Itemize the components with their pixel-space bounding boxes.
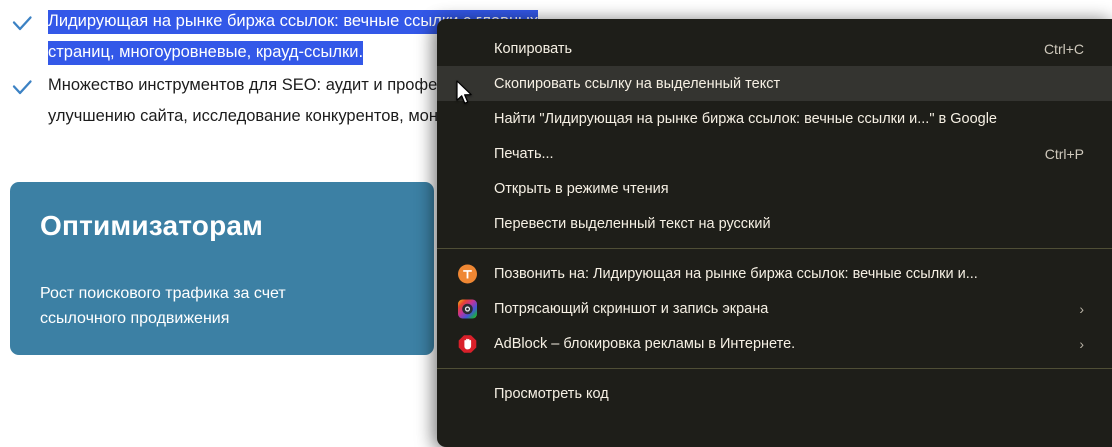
menu-item-label: Печать... <box>494 146 1021 162</box>
awesome-screenshot-extension-icon <box>458 299 477 318</box>
promo-card-title: Оптимизаторам <box>40 210 404 242</box>
menu-item-label: Просмотреть код <box>494 386 1060 402</box>
adblock-extension-icon <box>458 334 477 353</box>
menu-item-adblock[interactable]: AdBlock – блокировка рекламы в Интернете… <box>437 326 1112 361</box>
menu-item-label: Позвонить на: Лидирующая на рынке биржа … <box>494 266 1060 282</box>
chevron-right-icon: › <box>1061 301 1084 317</box>
menu-item-truecaller-call[interactable]: Позвонить на: Лидирующая на рынке биржа … <box>437 256 1112 291</box>
menu-item-search-google[interactable]: Найти "Лидирующая на рынке биржа ссылок:… <box>437 101 1112 136</box>
menu-item-label: Найти "Лидирующая на рынке биржа ссылок:… <box>494 111 1060 127</box>
check-icon <box>10 12 34 36</box>
menu-separator <box>437 368 1112 369</box>
menu-item-shortcut: Ctrl+P <box>1021 146 1084 162</box>
menu-item-translate-selection[interactable]: Перевести выделенный текст на русский <box>437 206 1112 241</box>
menu-item-open-reading-mode[interactable]: Открыть в режиме чтения <box>437 171 1112 206</box>
menu-item-label: Скопировать ссылку на выделенный текст <box>494 76 1060 92</box>
menu-item-label: AdBlock – блокировка рекламы в Интернете… <box>494 336 1061 352</box>
menu-item-awesome-screenshot[interactable]: Потрясающий скриншот и запись экрана › <box>437 291 1112 326</box>
menu-item-copy[interactable]: Копировать Ctrl+C <box>437 31 1112 66</box>
promo-card-optimizers[interactable]: Оптимизаторам Рост поискового трафика за… <box>10 182 434 355</box>
truecaller-extension-icon <box>458 264 477 283</box>
menu-item-label: Открыть в режиме чтения <box>494 181 1060 197</box>
chevron-right-icon: › <box>1061 336 1084 352</box>
menu-item-label: Копировать <box>494 41 1020 57</box>
check-icon <box>10 76 34 100</box>
context-menu[interactable]: Копировать Ctrl+C Скопировать ссылку на … <box>437 19 1112 447</box>
menu-item-inspect[interactable]: Просмотреть код <box>437 376 1112 411</box>
menu-item-label: Потрясающий скриншот и запись экрана <box>494 301 1061 317</box>
menu-item-label: Перевести выделенный текст на русский <box>494 216 1060 232</box>
screen: Лидирующая на рынке биржа ссылок: вечные… <box>0 0 1112 447</box>
menu-item-shortcut: Ctrl+C <box>1020 41 1084 57</box>
menu-item-copy-link-to-highlight[interactable]: Скопировать ссылку на выделенный текст <box>437 66 1112 101</box>
promo-card-subtitle: Рост поискового трафика за счет ссылочно… <box>40 281 404 331</box>
menu-separator <box>437 248 1112 249</box>
menu-item-print[interactable]: Печать... Ctrl+P <box>437 136 1112 171</box>
